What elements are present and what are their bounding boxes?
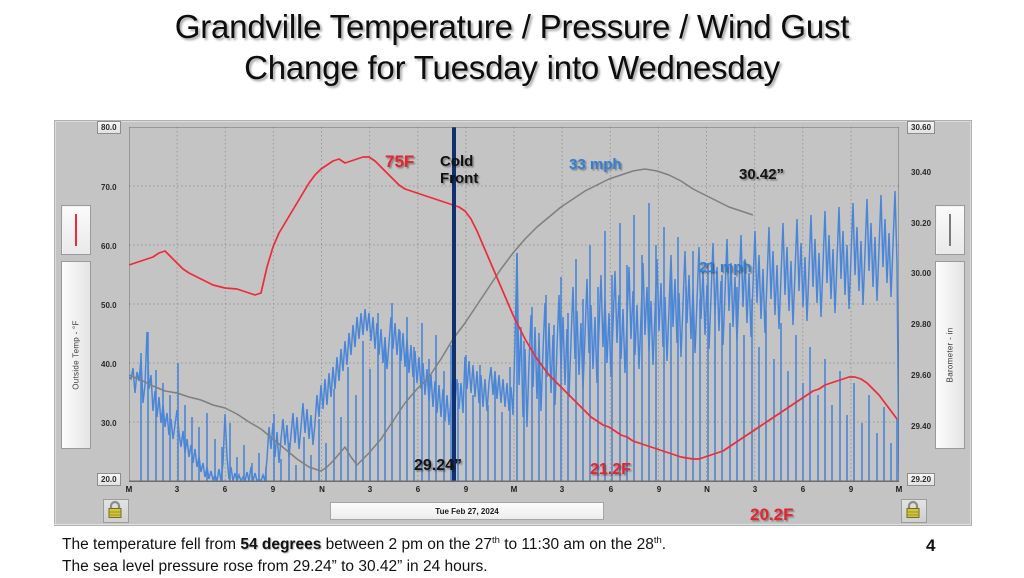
left-axis-title-box[interactable]: Outside Temp - °F <box>61 261 91 449</box>
left-axis-tick-70: 70.0 <box>101 183 117 192</box>
temp-21-label: 21.2F <box>590 461 631 479</box>
chart-date-bar: Tue Feb 27, 2024 <box>330 502 604 520</box>
x-tick-15: 9 <box>845 485 857 494</box>
x-tick-13: 3 <box>749 485 761 494</box>
content-divider <box>54 524 970 525</box>
pressure-max-label: 30.42” <box>739 167 784 184</box>
padlock-icon-left[interactable] <box>103 499 129 523</box>
x-axis-line <box>129 481 899 482</box>
right-axis-tick-2980: 29.80 <box>911 320 931 329</box>
right-axis-tick-2940: 29.40 <box>911 422 931 431</box>
right-axis-tick-3000: 30.00 <box>911 269 931 278</box>
x-tick-11: 9 <box>653 485 665 494</box>
page-title: Grandville Temperature / Pressure / Wind… <box>0 6 1024 88</box>
x-tick-12: N <box>701 485 713 494</box>
padlock-icon-right[interactable] <box>901 499 927 523</box>
caption-l1-bold: 54 degrees <box>240 536 321 553</box>
gust-max-label: 33 mph <box>569 157 622 174</box>
x-tick-6: 6 <box>412 485 424 494</box>
right-axis-tick-2960: 29.60 <box>911 371 931 380</box>
left-axis-tick-50: 50.0 <box>101 301 117 310</box>
x-tick-3: 9 <box>267 485 279 494</box>
caption-line-2: The sea level pressure rose from 29.24” … <box>62 556 842 578</box>
right-axis-title-box[interactable]: Barometer - in <box>935 261 965 449</box>
x-tick-9: 3 <box>556 485 568 494</box>
right-axis-tick-3060: 30.60 <box>907 121 935 134</box>
caption-block: The temperature fell from 54 degrees bet… <box>62 530 842 578</box>
caption-l1-end: . <box>662 536 666 553</box>
right-axis-tick-3040: 30.40 <box>911 168 931 177</box>
right-axis-tick-3020: 30.20 <box>911 219 931 228</box>
left-axis-tick-20: 20.0 <box>97 473 121 486</box>
barometer-legend-swatch[interactable] <box>935 205 965 255</box>
gust-second-label: 21 mph <box>699 260 752 277</box>
x-tick-0: M <box>123 485 135 494</box>
caption-line-1: The temperature fell from 54 degrees bet… <box>62 530 842 556</box>
weather-chart-panel: Outside Temp - °F Barometer - in <box>54 120 972 526</box>
x-tick-8: M <box>508 485 520 494</box>
x-tick-2: 6 <box>219 485 231 494</box>
x-tick-7: 9 <box>460 485 472 494</box>
barometer-legend-line-icon <box>949 214 951 246</box>
left-axis-tick-30: 30.0 <box>101 419 117 428</box>
left-axis-tick-60: 60.0 <box>101 242 117 251</box>
caption-l1-pre: The temperature fell from <box>62 536 240 553</box>
x-tick-14: 6 <box>797 485 809 494</box>
temp-min-label: 20.2F <box>750 505 793 524</box>
pressure-min-label: 29.24” <box>414 457 462 475</box>
x-tick-5: 3 <box>364 485 376 494</box>
x-tick-1: 3 <box>171 485 183 494</box>
caption-l1-mid: between 2 pm on the 27 <box>321 536 492 553</box>
padlock-glyph-left <box>104 500 126 520</box>
caption-l1-sup2: th <box>654 535 662 546</box>
right-axis-title: Barometer - in <box>946 328 955 383</box>
temp-max-label: 75F <box>385 152 414 171</box>
cold-front-label: Cold Front <box>440 154 478 188</box>
temp-legend-line-icon <box>75 214 77 246</box>
slide-number: 4 <box>926 536 935 556</box>
left-axis-tick-40: 40.0 <box>101 360 117 369</box>
left-axis-tick-80: 80.0 <box>97 121 121 134</box>
caption-l1-sup1: th <box>492 535 500 546</box>
plot-area[interactable]: 75F Cold Front 33 mph 30.42” 21 mph 29.2… <box>129 127 899 481</box>
right-axis-tick-2920: 29.20 <box>907 473 935 486</box>
temp-legend-swatch[interactable] <box>61 205 91 255</box>
x-tick-16: M <box>893 485 905 494</box>
left-axis-title: Outside Temp - °F <box>72 320 81 390</box>
caption-l1-mid2: to 11:30 am on the 28 <box>500 536 654 553</box>
padlock-glyph-right <box>902 500 924 520</box>
x-tick-4: N <box>316 485 328 494</box>
x-tick-10: 6 <box>605 485 617 494</box>
